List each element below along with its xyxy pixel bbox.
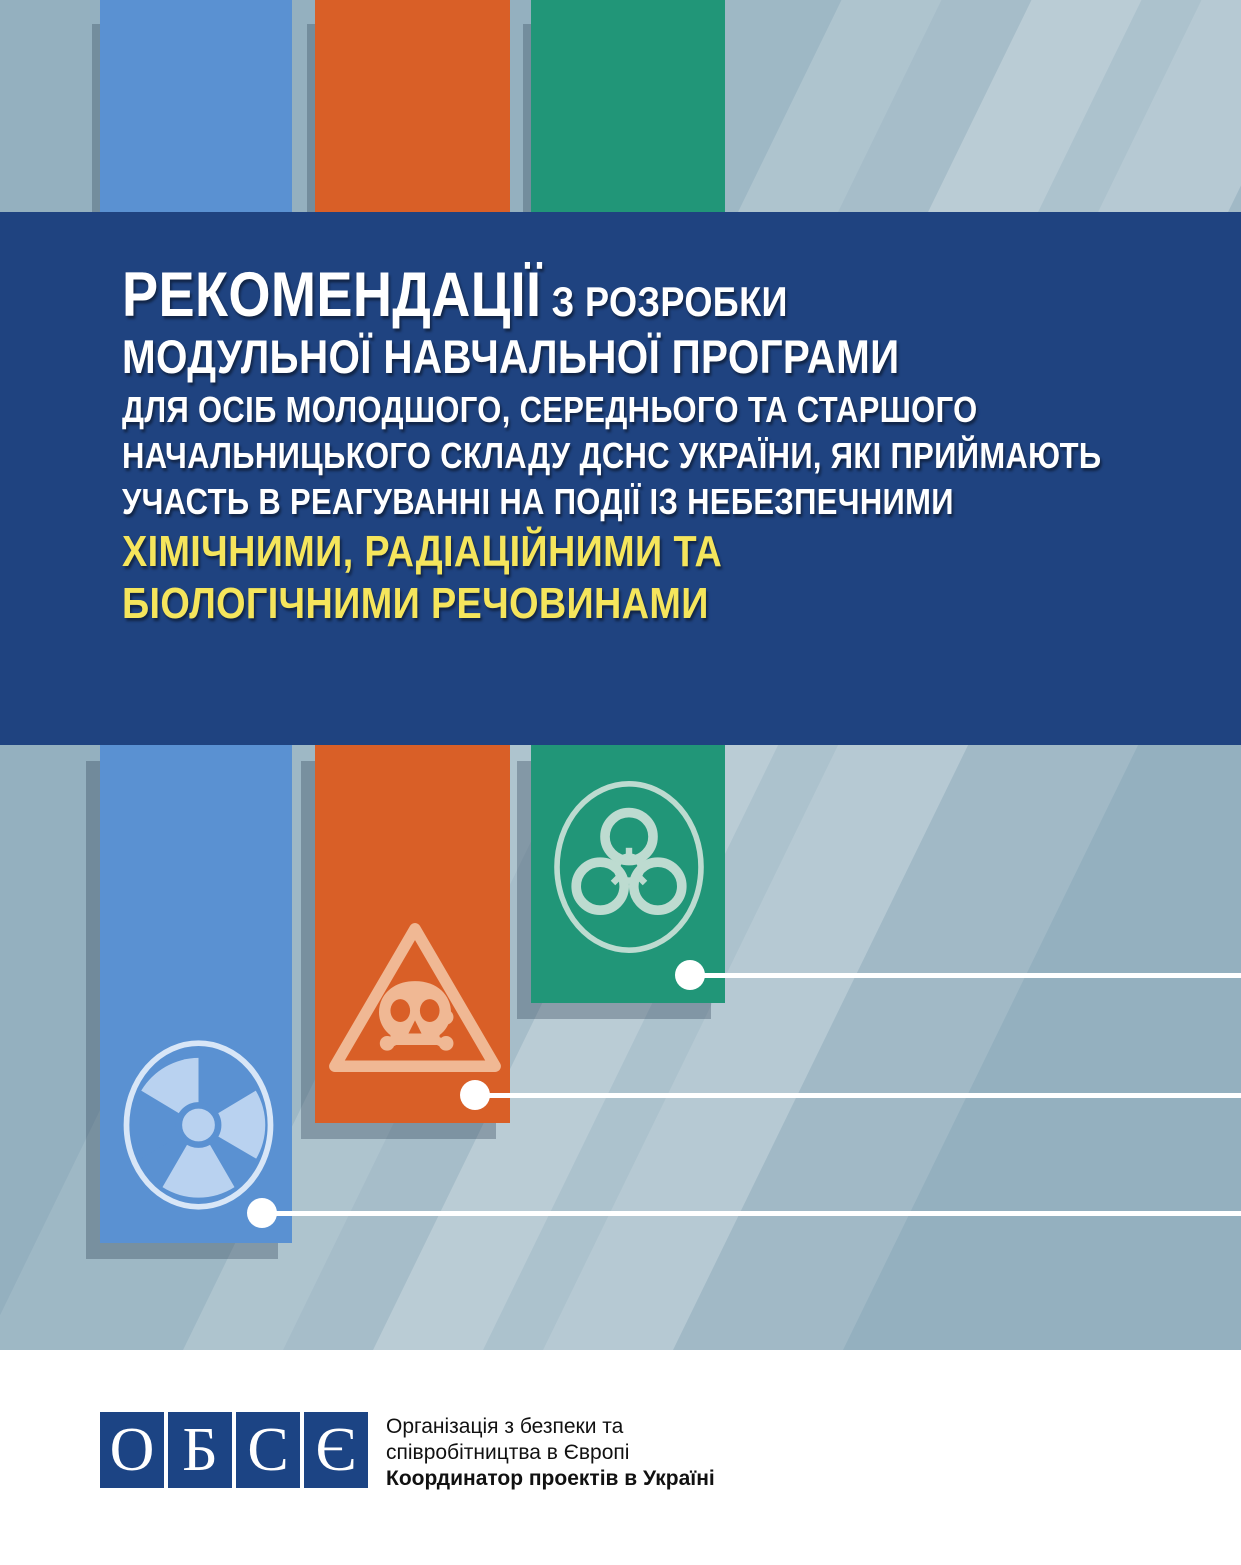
top-bar-face [100, 0, 292, 212]
osce-logo-squares: О Б С Є [100, 1412, 368, 1488]
title-line-1: РЕКОМЕНДАЦІЇЗ РОЗРОБКИ [122, 264, 1034, 327]
title-highlight-line-2: БІОЛОГІЧНИМИ РЕЧОВИНАМИ [122, 582, 1034, 626]
connector-line-radiation [262, 1211, 1241, 1216]
top-bar-face [531, 0, 725, 212]
title-line-2: МОДУЛЬНОЇ НАВЧАЛЬНОЇ ПРОГРАМИ [122, 333, 1034, 380]
biohazard-icon [549, 777, 709, 957]
org-line-1: Організація з безпеки та [386, 1414, 715, 1440]
connector-line-biohazard [690, 973, 1241, 978]
logo-letter-o: О [100, 1412, 164, 1488]
hazard-panel-radiation [100, 745, 292, 1243]
radiation-icon [116, 1035, 281, 1215]
document-cover: РЕКОМЕНДАЦІЇЗ РОЗРОБКИ МОДУЛЬНОЇ НАВЧАЛЬ… [0, 0, 1241, 1565]
org-line-3: Координатор проектів в Україні [386, 1466, 715, 1492]
title-line-3: ДЛЯ ОСІБ МОЛОДШОГО, СЕРЕДНЬОГО ТА СТАРШО… [122, 392, 1034, 428]
logo-letter-b: Б [168, 1412, 232, 1488]
skull-crossbones-triangle-icon [325, 915, 505, 1080]
cover-artwork: РЕКОМЕНДАЦІЇЗ РОЗРОБКИ МОДУЛЬНОЇ НАВЧАЛЬ… [0, 0, 1241, 1350]
connector-line-toxic [475, 1093, 1241, 1098]
logo-letter-ye: Є [304, 1412, 368, 1488]
panel-face [315, 745, 510, 1123]
title-highlight-line-1: ХІМІЧНИМИ, РАДІАЦІЙНИМИ ТА [122, 530, 1034, 574]
top-bar-face [315, 0, 510, 212]
title-band: РЕКОМЕНДАЦІЇЗ РОЗРОБКИ МОДУЛЬНОЇ НАВЧАЛЬ… [0, 212, 1241, 745]
title-text-group: РЕКОМЕНДАЦІЇЗ РОЗРОБКИ МОДУЛЬНОЇ НАВЧАЛЬ… [122, 264, 1182, 634]
connector-dot-biohazard [675, 960, 705, 990]
connector-dot-radiation [247, 1198, 277, 1228]
title-main-word: РЕКОМЕНДАЦІЇ [122, 260, 541, 330]
panel-face [100, 745, 292, 1243]
top-bar-orange [315, 0, 510, 212]
logo-letter-s: С [236, 1412, 300, 1488]
org-line-2: співробітництва в Європі [386, 1440, 715, 1466]
title-line-1-suffix: З РОЗРОБКИ [552, 278, 788, 325]
connector-dot-toxic [460, 1080, 490, 1110]
hazard-panel-toxic [315, 745, 510, 1123]
title-line-4: НАЧАЛЬНИЦЬКОГО СКЛАДУ ДСНС УКРАЇНИ, ЯКІ … [122, 438, 1034, 474]
top-bar-green [531, 0, 725, 212]
title-line-5: УЧАСТЬ В РЕАГУВАННІ НА ПОДІЇ ІЗ НЕБЕЗПЕЧ… [122, 484, 1034, 520]
osce-logo: О Б С Є Організація з безпеки та співроб… [100, 1412, 715, 1491]
top-bar-blue [100, 0, 292, 212]
cover-footer: О Б С Є Організація з безпеки та співроб… [0, 1350, 1241, 1565]
osce-logo-text: Організація з безпеки та співробітництва… [386, 1412, 715, 1491]
